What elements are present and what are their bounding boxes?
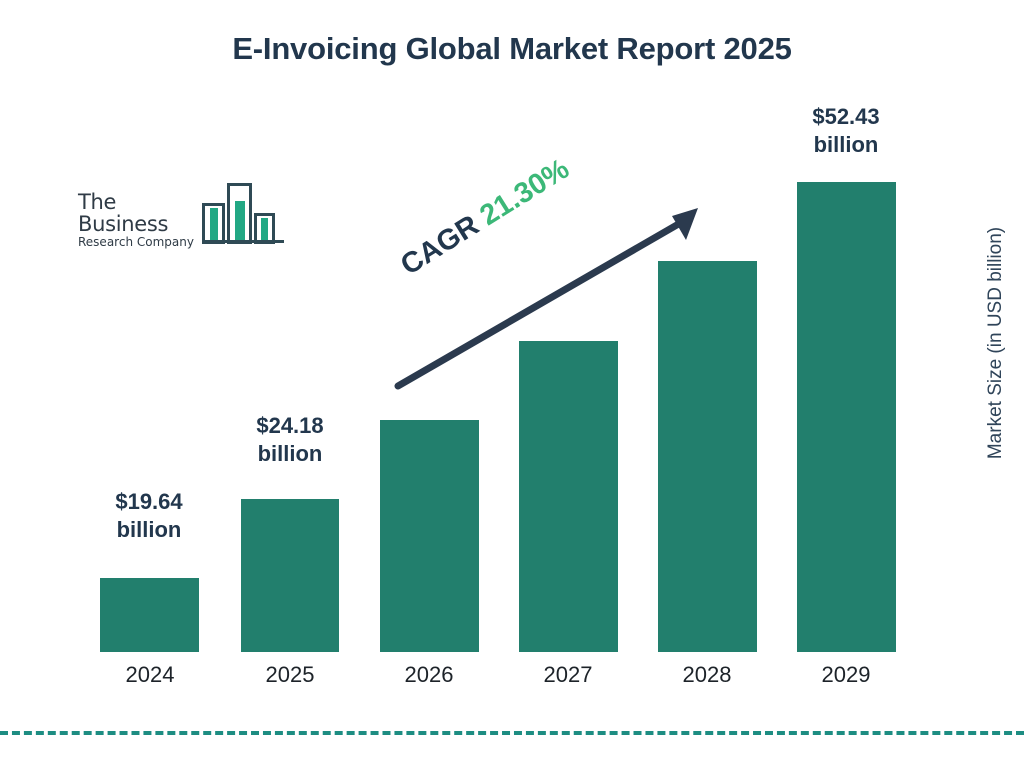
bar-value-unit-2025: billion [215, 440, 365, 468]
bar-value-label-2025: $24.18 billion [215, 412, 365, 468]
bar-value-amount-2024: $19.64 [74, 488, 224, 516]
x-tick-label-2026: 2026 [354, 662, 504, 688]
y-axis-title: Market Size (in USD billion) [985, 183, 1007, 503]
bar-2025[interactable] [241, 499, 339, 652]
x-tick-label-2027: 2027 [493, 662, 643, 688]
x-tick-label-2028: 2028 [632, 662, 782, 688]
bar-2026[interactable] [380, 420, 479, 652]
bar-value-amount-2029: $52.43 [771, 103, 921, 131]
bar-2029[interactable] [797, 182, 896, 652]
bar-value-unit-2029: billion [771, 131, 921, 159]
bar-value-amount-2025: $24.18 [215, 412, 365, 440]
bar-value-label-2029: $52.43 billion [771, 103, 921, 159]
bar-value-unit-2024: billion [74, 516, 224, 544]
growth-arrow-icon [380, 190, 720, 400]
x-tick-label-2024: 2024 [75, 662, 225, 688]
chart-canvas: E-Invoicing Global Market Report 2025 Th… [0, 0, 1024, 768]
x-tick-label-2025: 2025 [215, 662, 365, 688]
footer-divider [0, 731, 1024, 735]
x-tick-label-2029: 2029 [771, 662, 921, 688]
bar-2024[interactable] [100, 578, 199, 652]
bar-value-label-2024: $19.64 billion [74, 488, 224, 544]
